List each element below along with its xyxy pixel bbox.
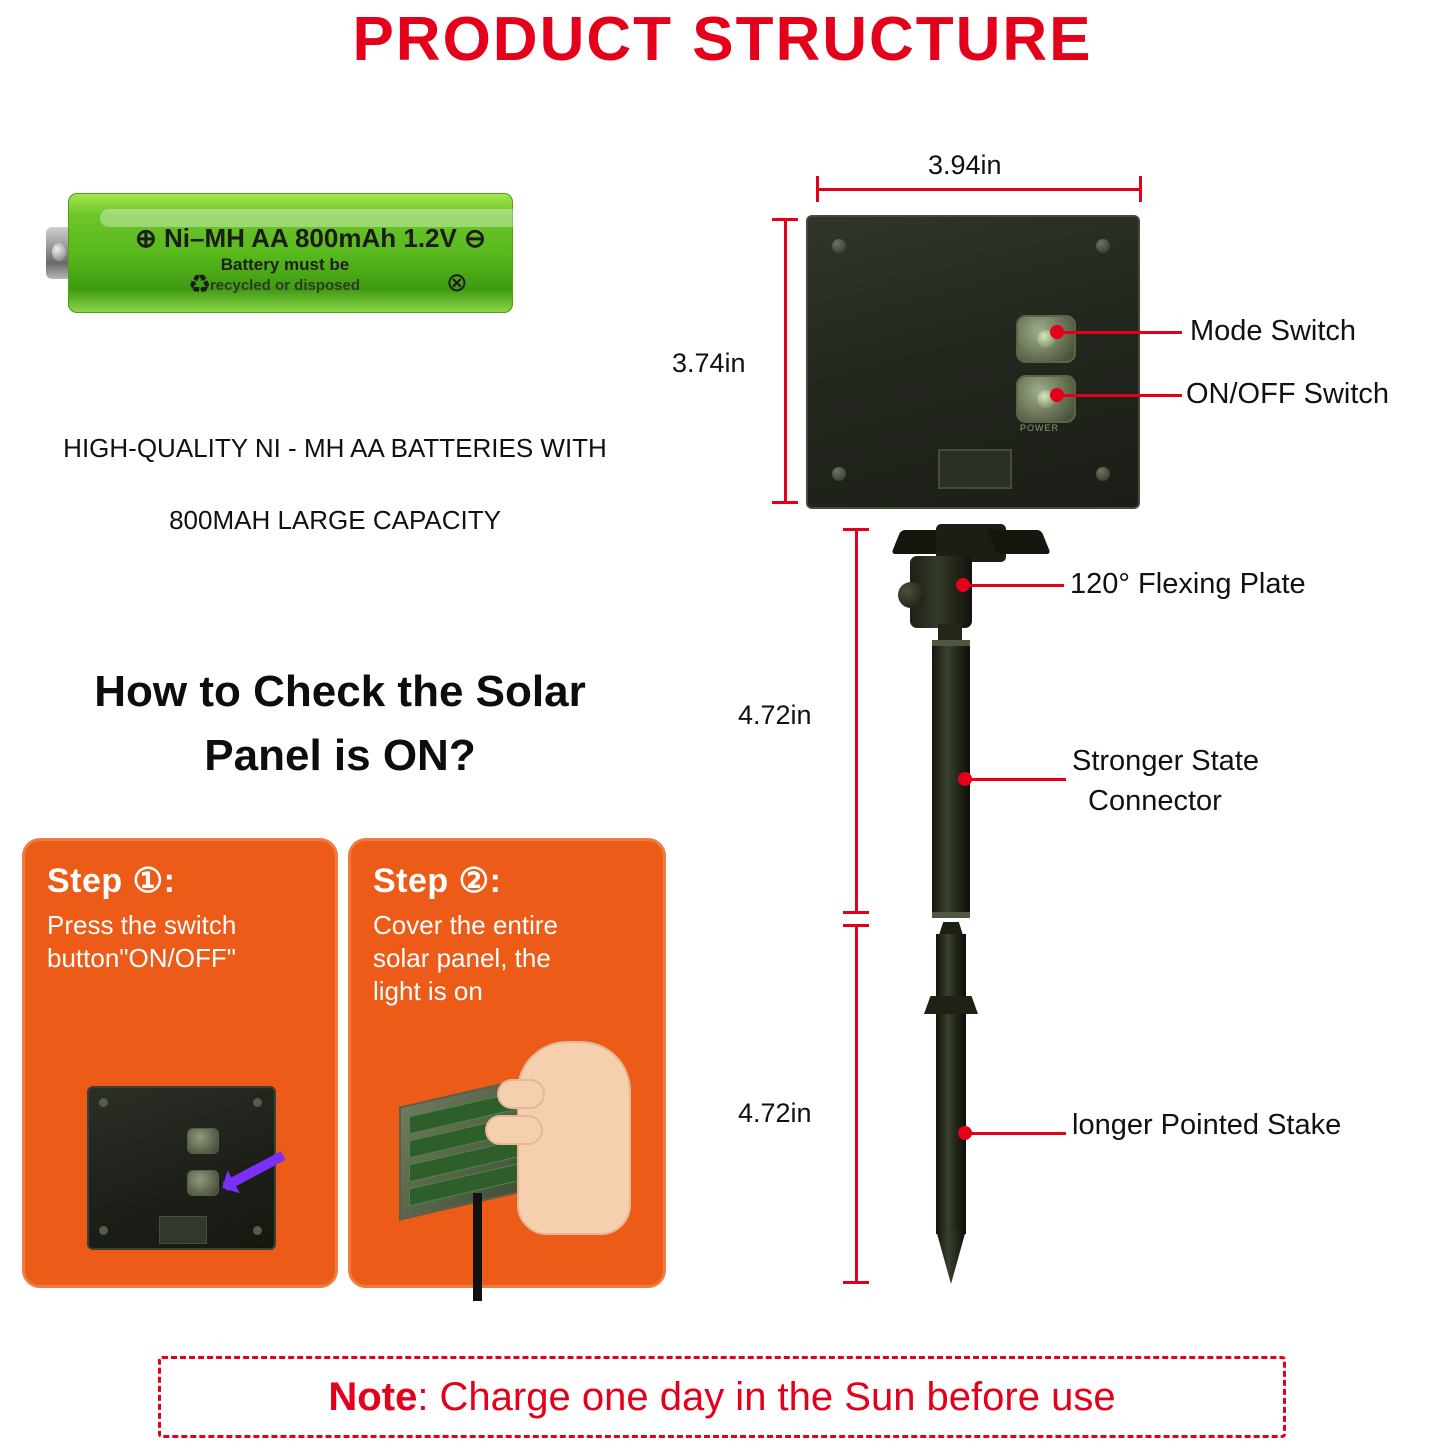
dim-tick bbox=[772, 218, 798, 221]
dim-tick bbox=[843, 911, 869, 914]
mini-screw-icon bbox=[99, 1226, 108, 1235]
dim-tick bbox=[772, 501, 798, 504]
mini-port bbox=[159, 1216, 207, 1244]
dim-label-connector: 4.72in bbox=[730, 700, 820, 731]
tube-ring bbox=[932, 640, 970, 646]
dim-tick bbox=[843, 924, 869, 927]
battery-sub-text-2: recycled or disposed bbox=[135, 277, 435, 294]
battery-spec-text: ⊕ Ni–MH AA 800mAh 1.2V ⊖ bbox=[135, 223, 475, 254]
adjust-knob bbox=[898, 582, 924, 608]
callout-line-flexing-plate bbox=[966, 584, 1064, 587]
howto-heading-line2: Panel is ON? bbox=[0, 724, 680, 788]
step-card-2: Step ②: Cover the entire solar panel, th… bbox=[348, 838, 666, 1288]
dim-label-panel-height: 3.74in bbox=[664, 348, 754, 379]
dim-label-stake: 4.72in bbox=[730, 1098, 820, 1129]
mini-screw-icon bbox=[253, 1098, 262, 1107]
dim-tick bbox=[1139, 176, 1142, 202]
onoff-switch-button[interactable] bbox=[1016, 375, 1076, 423]
stake-tip bbox=[936, 1230, 966, 1284]
step-1-body-line1: Press the switch bbox=[47, 909, 317, 942]
dim-tick bbox=[843, 528, 869, 531]
mode-switch-button[interactable] bbox=[1016, 315, 1076, 363]
note-prefix: Note bbox=[328, 1375, 417, 1420]
callout-line-connector bbox=[968, 778, 1066, 781]
screw-icon bbox=[832, 239, 846, 253]
finger bbox=[497, 1079, 545, 1109]
no-bin-icon: ⊗ bbox=[446, 267, 468, 298]
battery-caption-line1: HIGH-QUALITY NI - MH AA BATTERIES WITH bbox=[10, 412, 660, 484]
battery-caption-line2: 800MAH LARGE CAPACITY bbox=[10, 484, 660, 556]
callout-line-onoff-switch bbox=[1060, 394, 1182, 397]
stake-fin bbox=[924, 996, 978, 1014]
screw-icon bbox=[832, 467, 846, 481]
callout-mode-switch: Mode Switch bbox=[1190, 312, 1356, 350]
step-card-1: Step ①: Press the switch button"ON/OFF" bbox=[22, 838, 338, 1288]
hand-illustration bbox=[517, 1041, 631, 1235]
finger bbox=[485, 1115, 543, 1145]
howto-heading: How to Check the Solar Panel is ON? bbox=[0, 660, 680, 788]
mini-screw-icon bbox=[253, 1226, 262, 1235]
step-2-body-line2: solar panel, the bbox=[373, 942, 645, 975]
callout-connector-line2: Connector bbox=[1088, 782, 1222, 820]
stake-shaft bbox=[936, 934, 966, 1234]
dim-tick bbox=[816, 176, 819, 202]
callout-line-mode-switch bbox=[1060, 331, 1182, 334]
panel-port bbox=[938, 449, 1012, 489]
step-2-body-line1: Cover the entire bbox=[373, 909, 645, 942]
power-label: POWER bbox=[1020, 423, 1059, 433]
solar-panel-back-view: POWER bbox=[806, 215, 1140, 509]
note-text: Note: Charge one day in the Sun before u… bbox=[158, 1356, 1286, 1438]
page-title: PRODUCT STRUCTURE bbox=[0, 4, 1445, 75]
screw-icon bbox=[1096, 467, 1110, 481]
tube-ring bbox=[932, 912, 970, 918]
dim-line-panel-height bbox=[784, 218, 787, 504]
flexing-plate bbox=[896, 524, 1046, 560]
dim-line-panel-width bbox=[816, 188, 1142, 191]
callout-connector-line1: Stronger State bbox=[1072, 742, 1259, 780]
step-2-title: Step ②: bbox=[373, 861, 645, 901]
callout-flexing-plate: 120° Flexing Plate bbox=[1070, 565, 1306, 603]
battery-illustration: ⊕ Ni–MH AA 800mAh 1.2V ⊖ Battery must be… bbox=[40, 183, 515, 323]
solar-panel-pole bbox=[473, 1193, 482, 1301]
battery-caption: HIGH-QUALITY NI - MH AA BATTERIES WITH 8… bbox=[10, 412, 660, 556]
dim-tick bbox=[843, 1281, 869, 1284]
battery-sub-text: Battery must be bbox=[135, 255, 435, 275]
note-body: : Charge one day in the Sun before use bbox=[417, 1375, 1115, 1420]
dim-label-panel-width: 3.94in bbox=[920, 150, 1010, 181]
pointed-stake bbox=[928, 934, 974, 1284]
dim-line-connector bbox=[855, 528, 858, 914]
step-1-title: Step ①: bbox=[47, 861, 317, 901]
step-2-body-line3: light is on bbox=[373, 975, 645, 1008]
screw-icon bbox=[1096, 239, 1110, 253]
callout-stake: longer Pointed Stake bbox=[1072, 1106, 1341, 1144]
mini-screw-icon bbox=[99, 1098, 108, 1107]
step-1-body-line2: button"ON/OFF" bbox=[47, 942, 317, 975]
howto-heading-line1: How to Check the Solar bbox=[0, 660, 680, 724]
recycle-icon: ♻ bbox=[188, 269, 211, 300]
dim-line-stake bbox=[855, 924, 858, 1284]
callout-line-stake bbox=[968, 1132, 1066, 1135]
flexing-plate-right-wing bbox=[987, 530, 1051, 554]
mini-mode-switch bbox=[187, 1128, 219, 1154]
callout-onoff-switch: ON/OFF Switch bbox=[1186, 375, 1389, 413]
